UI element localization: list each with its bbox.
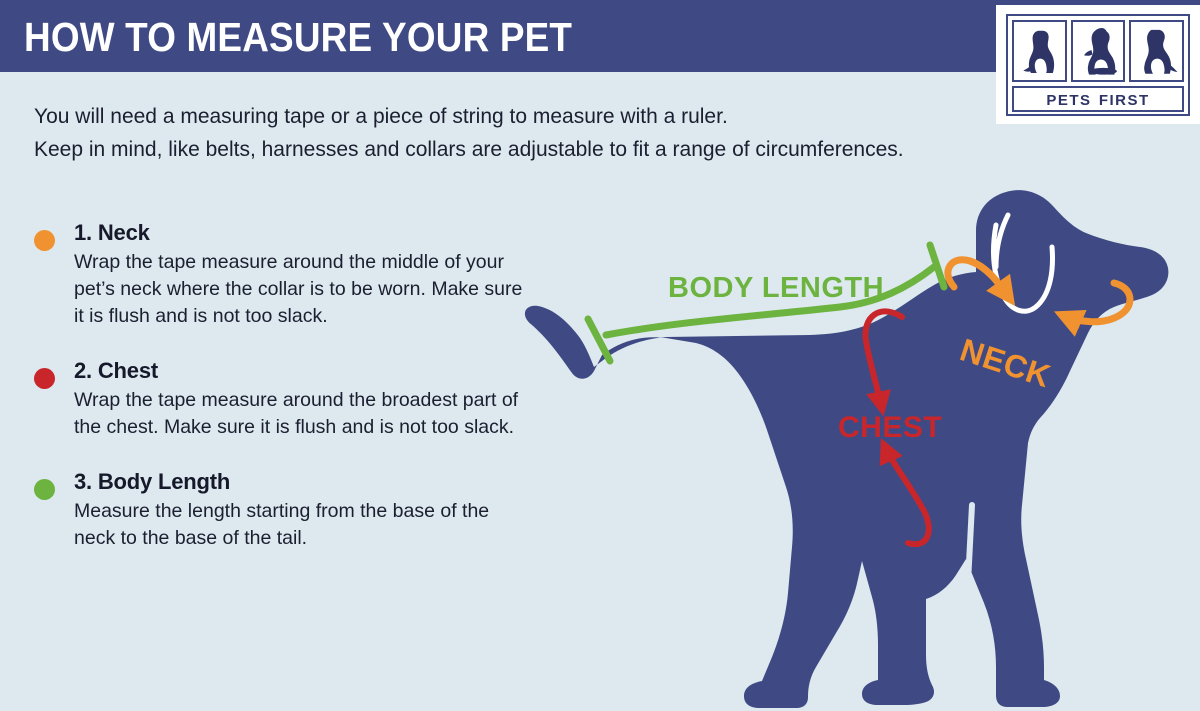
dog-howling-icon <box>1071 20 1126 82</box>
logo-dog-frames <box>1012 20 1184 82</box>
body-length-tick-left <box>588 319 610 361</box>
bullet-neck <box>34 230 55 251</box>
step-title-chest: 2. Chest <box>74 356 530 386</box>
intro-line-2: Keep in mind, like belts, harnesses and … <box>34 133 974 166</box>
measurement-steps-list: 1. Neck Wrap the tape measure around the… <box>30 218 530 578</box>
step-title-neck: 1. Neck <box>74 218 530 248</box>
list-item: 1. Neck Wrap the tape measure around the… <box>30 218 530 330</box>
list-item: 3. Body Length Measure the length starti… <box>30 467 530 552</box>
logo-wordmark: Pets First <box>1012 86 1184 112</box>
step-body-chest: Wrap the tape measure around the broades… <box>74 387 530 441</box>
page-title: HOW TO MEASURE YOUR PET <box>24 14 572 60</box>
dog-silhouette <box>525 190 1168 708</box>
step-title-body-length: 3. Body Length <box>74 467 530 497</box>
step-body-body-length: Measure the length starting from the bas… <box>74 498 530 552</box>
dog-sitting-icon <box>1012 20 1067 82</box>
bullet-body-length <box>34 479 55 500</box>
intro-line-1: You will need a measuring tape or a piec… <box>34 100 974 133</box>
intro-text: You will need a measuring tape or a piec… <box>34 100 974 166</box>
bullet-chest <box>34 368 55 389</box>
label-body-length: BODY LENGTH <box>668 272 884 304</box>
infographic-page: HOW TO MEASURE YOUR PET <box>0 0 1200 711</box>
label-chest: CHEST <box>838 411 942 444</box>
step-body-neck: Wrap the tape measure around the middle … <box>74 249 530 330</box>
dog-measurement-diagram: BODY LENGTH NECK CHEST <box>510 175 1200 711</box>
list-item: 2. Chest Wrap the tape measure around th… <box>30 356 530 441</box>
logo-inner-frame: Pets First <box>1006 14 1190 116</box>
dog-sitting-alert-icon <box>1129 20 1184 82</box>
dog-rear-leg-line <box>862 575 866 663</box>
brand-logo: Pets First <box>996 5 1200 124</box>
